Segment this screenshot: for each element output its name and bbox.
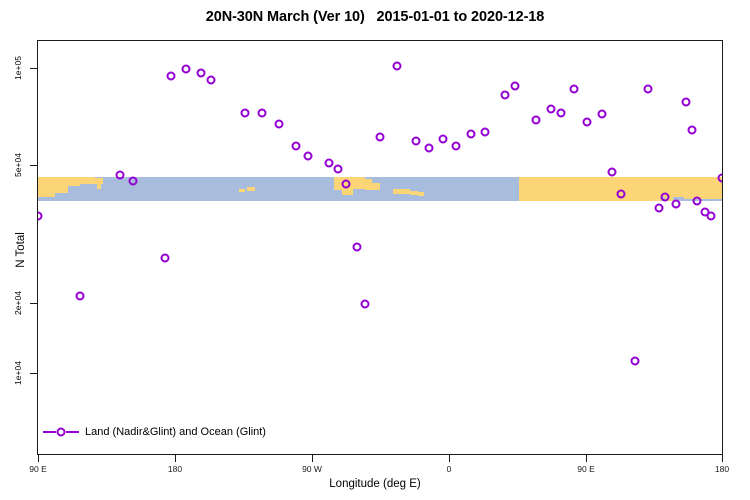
plot-area: Land (Nadir&Glint) and Ocean (Glint) [37,40,723,455]
data-point [258,108,267,117]
data-point [334,165,343,174]
land-region [365,183,380,190]
data-point [341,179,350,188]
data-point [275,120,284,129]
data-point [693,196,702,205]
scatter-plot-figure: 20N-30N March (Ver 10) 2015-01-01 to 202… [0,0,750,500]
data-point [393,62,402,71]
legend-marker-icon [43,427,79,437]
y-tick-mark [30,165,37,166]
data-point [681,97,690,106]
data-point [531,116,540,125]
data-point [241,108,250,117]
land-region [722,177,723,193]
land-region [410,191,418,195]
data-point [324,159,333,168]
y-tick-label: 1e+05 [8,54,28,82]
land-region [38,177,55,197]
data-point [75,292,84,301]
land-region [55,177,65,188]
data-point [510,81,519,90]
data-point [353,243,362,252]
y-axis-label: N Total [14,210,28,290]
y-tick-mark [30,373,37,374]
land-region [239,189,245,192]
land-region [722,177,723,197]
y-tick-mark [30,303,37,304]
data-point [292,141,301,150]
data-point [718,173,724,182]
data-point [129,176,138,185]
data-point [182,65,191,74]
data-point [360,299,369,308]
x-axis-label: Longitude (deg E) [0,478,750,490]
data-point [161,254,170,263]
land-region [247,187,255,191]
data-point [501,91,510,100]
land-region [551,177,627,201]
data-point [661,193,670,202]
data-point [655,204,664,213]
land-region [519,177,551,201]
x-tick-label: 90 W [302,464,322,474]
legend-label: Land (Nadir&Glint) and Ocean (Glint) [85,426,266,438]
page-title: 20N-30N March (Ver 10) 2015-01-01 to 202… [0,9,750,25]
land-region [65,177,80,186]
data-point [672,200,681,209]
y-axis-label-text: N Total [15,232,27,268]
data-point [425,144,434,153]
data-point [412,137,421,146]
data-point [303,151,312,160]
land-region [684,177,722,199]
y-tick-label: 2e+04 [8,289,28,317]
data-point [687,126,696,135]
data-point [206,76,215,85]
land-region [393,189,410,194]
land-region [652,183,660,201]
y-tick-label: 1e+04 [8,359,28,387]
x-tick-mark [175,455,176,462]
data-point [583,118,592,127]
x-tick-label: 90 E [29,464,47,474]
data-point [452,141,461,150]
data-point [480,128,489,137]
legend: Land (Nadir&Glint) and Ocean (Glint) [43,426,266,438]
y-tick-label: 5e+04 [8,151,28,179]
data-point [547,104,556,113]
x-tick-mark [586,455,587,462]
x-tick-label: 0 [447,464,452,474]
x-tick-label: 90 E [577,464,595,474]
land-region [418,192,424,196]
data-point [607,167,616,176]
data-point [630,357,639,366]
data-point [556,108,565,117]
data-point [643,84,652,93]
data-point [197,69,206,78]
x-tick-mark [312,455,313,462]
data-point [569,84,578,93]
data-point [467,130,476,139]
data-point [438,134,447,143]
data-point [115,170,124,179]
x-tick-mark [722,455,723,462]
data-point [706,211,715,220]
x-tick-mark [449,455,450,462]
x-tick-label: 180 [168,464,182,474]
y-tick-mark [30,68,37,69]
data-point [167,71,176,80]
land-region [97,184,101,189]
data-point [37,211,43,220]
x-tick-mark [38,455,39,462]
x-tick-label: 180 [715,464,729,474]
data-point [376,132,385,141]
data-point [598,110,607,119]
data-point [617,189,626,198]
